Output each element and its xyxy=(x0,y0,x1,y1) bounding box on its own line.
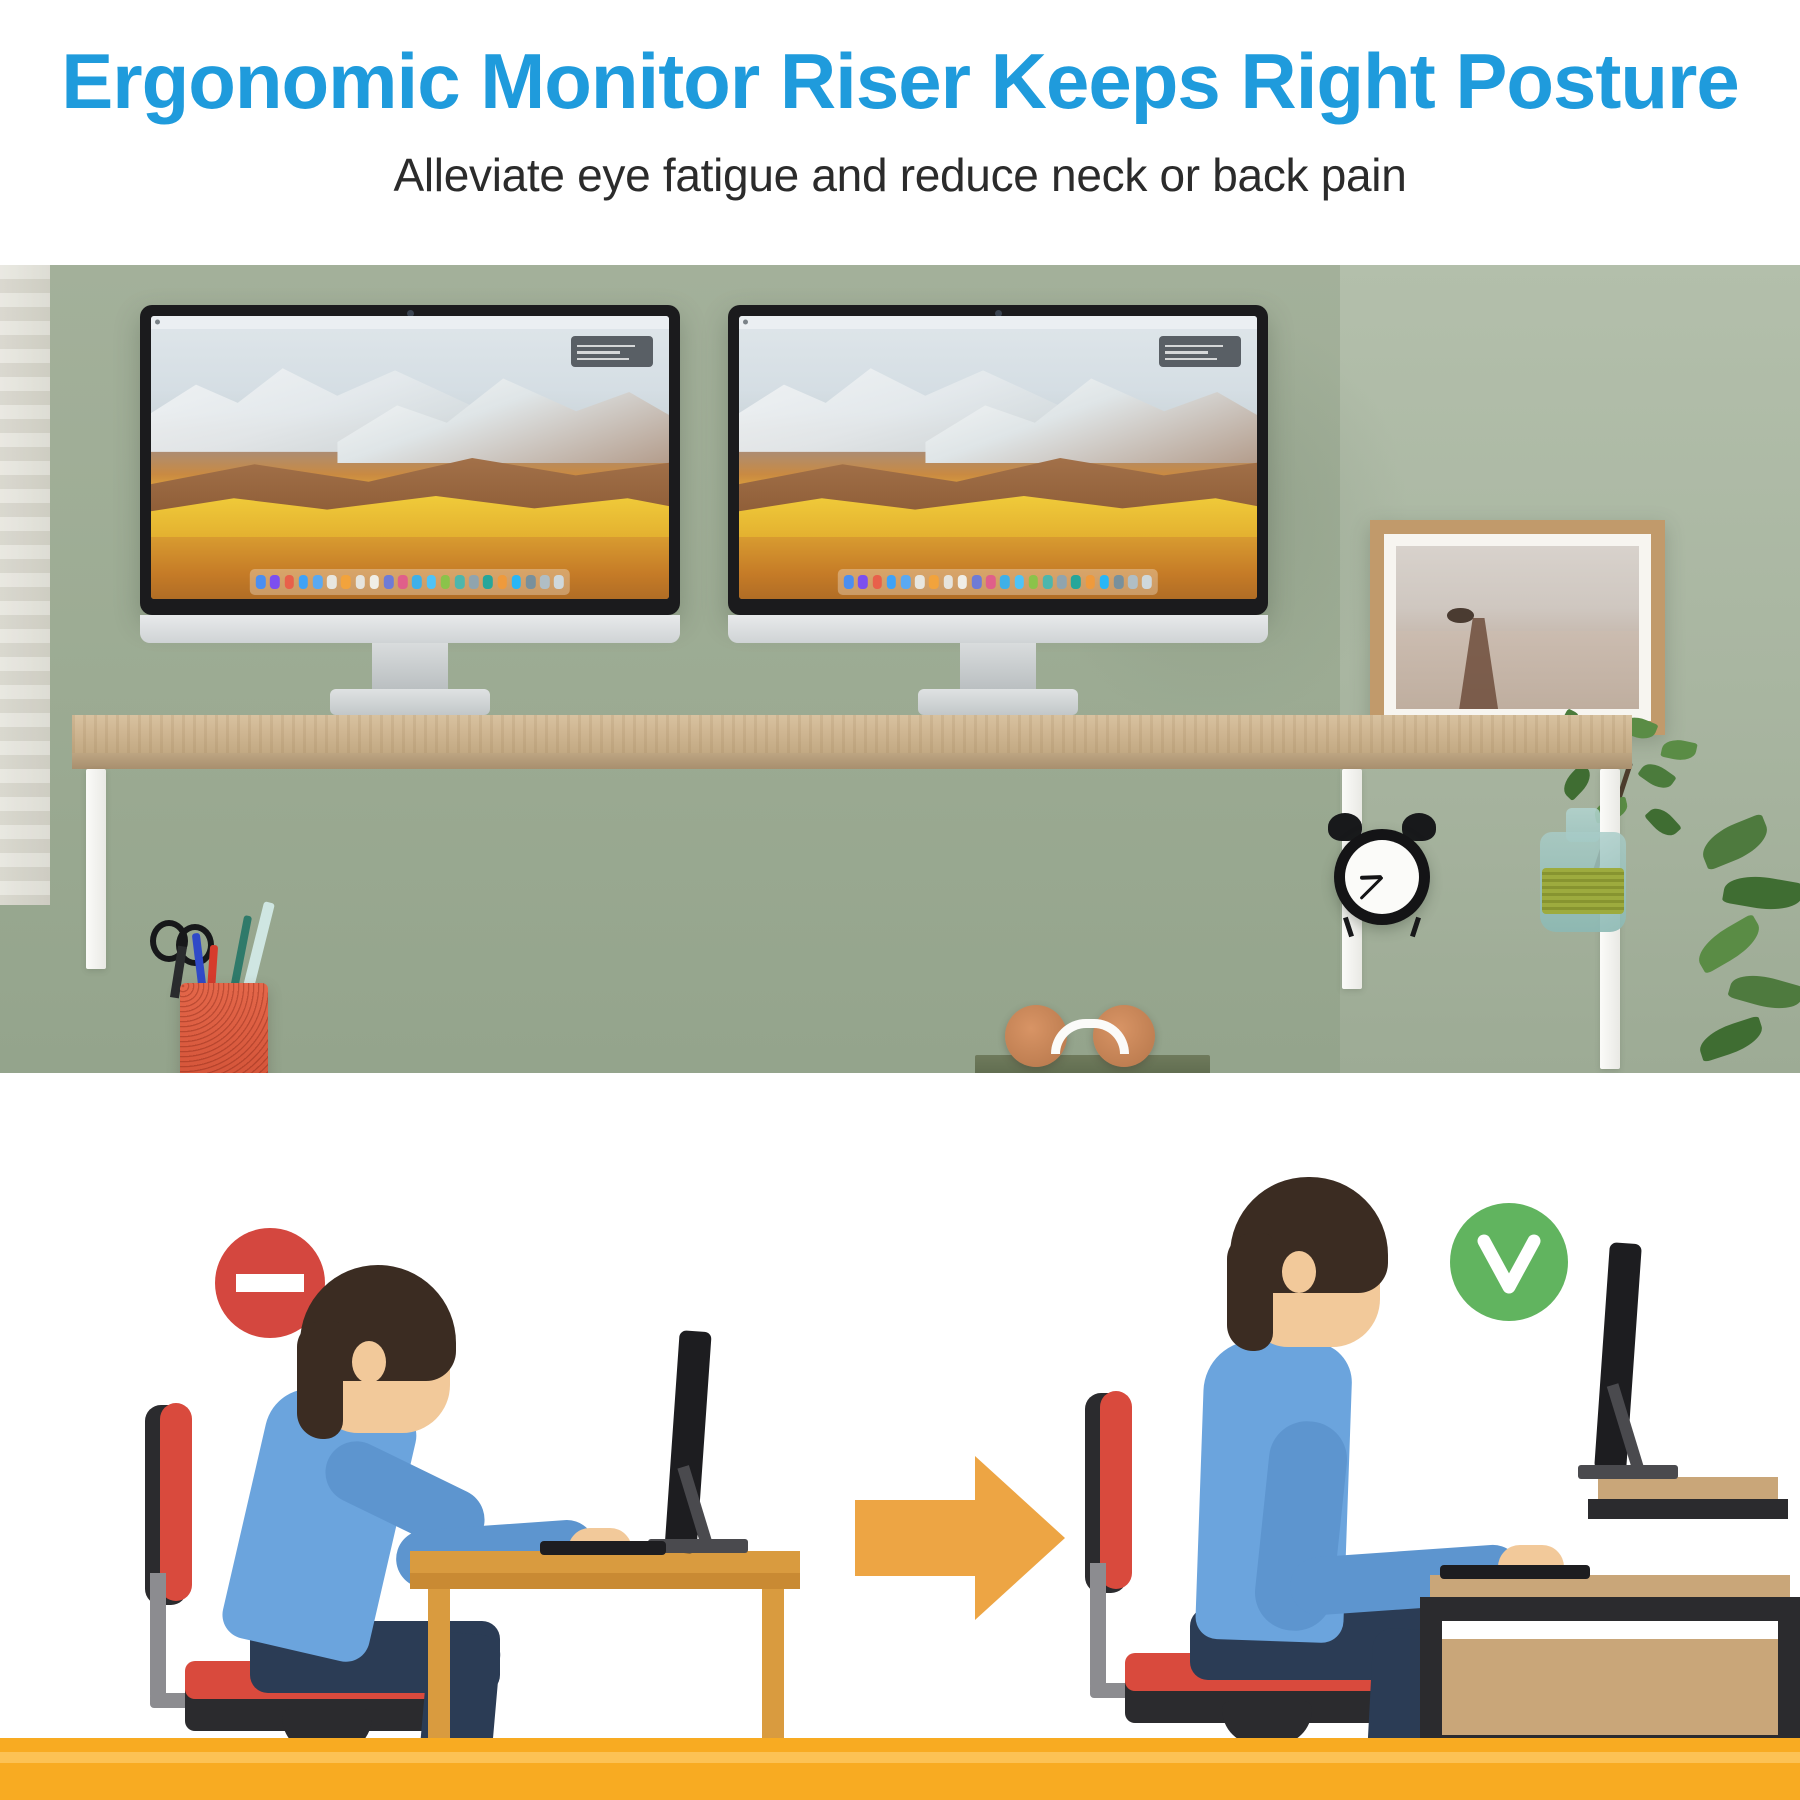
chair-back-support-r xyxy=(1090,1563,1106,1693)
dock-icon[interactable] xyxy=(284,575,294,589)
art-figure xyxy=(1447,608,1474,623)
dock-icon[interactable] xyxy=(313,575,323,589)
dock-icon[interactable] xyxy=(887,575,897,589)
monitor-base-good xyxy=(1578,1465,1678,1479)
dock-icon[interactable] xyxy=(1043,575,1053,589)
macos-menubar xyxy=(739,316,1257,329)
riser-leg-left xyxy=(86,769,106,969)
dock-icon[interactable] xyxy=(370,575,380,589)
approved-badge xyxy=(1450,1203,1568,1321)
ear-bad xyxy=(352,1341,386,1383)
pen-cup xyxy=(180,983,268,1073)
macos-menubar xyxy=(151,316,669,329)
dock-icon[interactable] xyxy=(355,575,365,589)
curtain xyxy=(0,265,50,905)
riser-shelf xyxy=(1598,1477,1778,1499)
vase-rope-wrap xyxy=(1542,868,1624,914)
dock-icon[interactable] xyxy=(929,575,939,589)
dock-icon[interactable] xyxy=(526,575,536,589)
dock-icon[interactable] xyxy=(872,575,882,589)
dock-icon[interactable] xyxy=(483,575,493,589)
dock-icon[interactable] xyxy=(986,575,996,589)
chair-back-support xyxy=(150,1573,166,1703)
keyboard-bad xyxy=(540,1541,666,1555)
dock-icon[interactable] xyxy=(384,575,394,589)
drawer-upper[interactable] xyxy=(1442,1639,1778,1735)
dock-icon[interactable] xyxy=(915,575,925,589)
dock-icon[interactable] xyxy=(1071,575,1081,589)
dock-icon[interactable] xyxy=(844,575,854,589)
posture-comparison-panel xyxy=(0,1073,1800,1800)
clock-case xyxy=(1334,829,1430,925)
clock-dial xyxy=(1345,840,1419,914)
dock-icon[interactable] xyxy=(1114,575,1124,589)
header-banner: Ergonomic Monitor Riser Keeps Right Post… xyxy=(0,0,1800,265)
dock-icon[interactable] xyxy=(327,575,337,589)
monitor-right-stand-base xyxy=(918,689,1078,715)
dock-icon[interactable] xyxy=(858,575,868,589)
dock-icon[interactable] xyxy=(469,575,479,589)
dock-icon[interactable] xyxy=(1000,575,1010,589)
ear-good xyxy=(1282,1251,1316,1293)
dock-icon[interactable] xyxy=(441,575,451,589)
monitor-right-stand-neck xyxy=(960,643,1036,691)
chair-back xyxy=(160,1403,192,1601)
dock-icon[interactable] xyxy=(512,575,522,589)
dock-icon[interactable] xyxy=(540,575,550,589)
page-subtitle: Alleviate eye fatigue and reduce neck or… xyxy=(0,148,1800,202)
monitor-right xyxy=(728,305,1268,615)
desk-lip-bad xyxy=(410,1573,800,1589)
dock-icon[interactable] xyxy=(1014,575,1024,589)
monitor-right-screen xyxy=(739,316,1257,599)
dock-icon[interactable] xyxy=(256,575,266,589)
dock-icon[interactable] xyxy=(554,575,564,589)
dock-icon[interactable] xyxy=(943,575,953,589)
dock-icon[interactable] xyxy=(299,575,309,589)
monitor-right-chin xyxy=(728,615,1268,643)
dock-icon[interactable] xyxy=(412,575,422,589)
dock-icon[interactable] xyxy=(1100,575,1110,589)
page-title: Ergonomic Monitor Riser Keeps Right Post… xyxy=(0,42,1800,122)
glass-vase xyxy=(1540,810,1626,932)
desktop-widget xyxy=(1159,336,1242,367)
desktop-widget xyxy=(571,336,654,367)
macos-dock[interactable] xyxy=(250,569,570,594)
monitor-left-stand-neck xyxy=(372,643,448,691)
dock-icon[interactable] xyxy=(972,575,982,589)
alarm-clock xyxy=(1330,813,1434,931)
dock-icon[interactable] xyxy=(497,575,507,589)
riser-shelf-top xyxy=(72,715,1632,753)
desk-frame-good xyxy=(1420,1597,1800,1621)
floor-bar xyxy=(0,1738,1800,1800)
dock-icon[interactable] xyxy=(1085,575,1095,589)
dock-icon[interactable] xyxy=(1057,575,1067,589)
hair-back-bad xyxy=(297,1321,343,1439)
dock-icon[interactable] xyxy=(398,575,408,589)
monitor-left-screen xyxy=(151,316,669,599)
macos-dock[interactable] xyxy=(838,569,1158,594)
monitor-left-stand-base xyxy=(330,689,490,715)
headphones xyxy=(1005,1005,1155,1067)
chair-back-r xyxy=(1100,1391,1132,1589)
riser-shelf-edge xyxy=(72,753,1632,769)
dock-icon[interactable] xyxy=(901,575,911,589)
dock-icon[interactable] xyxy=(1128,575,1138,589)
monitor-left-chin xyxy=(140,615,680,643)
monitor-left xyxy=(140,305,680,615)
hair-back-good xyxy=(1227,1233,1273,1351)
product-photo-panel: THRIFT EPSON L355 xyxy=(0,265,1800,1073)
transition-arrow xyxy=(855,1448,1075,1628)
dock-icon[interactable] xyxy=(426,575,436,589)
dock-icon[interactable] xyxy=(1029,575,1039,589)
dock-icon[interactable] xyxy=(341,575,351,589)
dock-icon[interactable] xyxy=(1142,575,1152,589)
dock-icon[interactable] xyxy=(958,575,968,589)
dock-icon[interactable] xyxy=(455,575,465,589)
riser-frame-top xyxy=(1588,1499,1788,1519)
keyboard-good xyxy=(1440,1565,1590,1579)
side-plant xyxy=(1690,825,1800,1073)
dock-icon[interactable] xyxy=(270,575,280,589)
